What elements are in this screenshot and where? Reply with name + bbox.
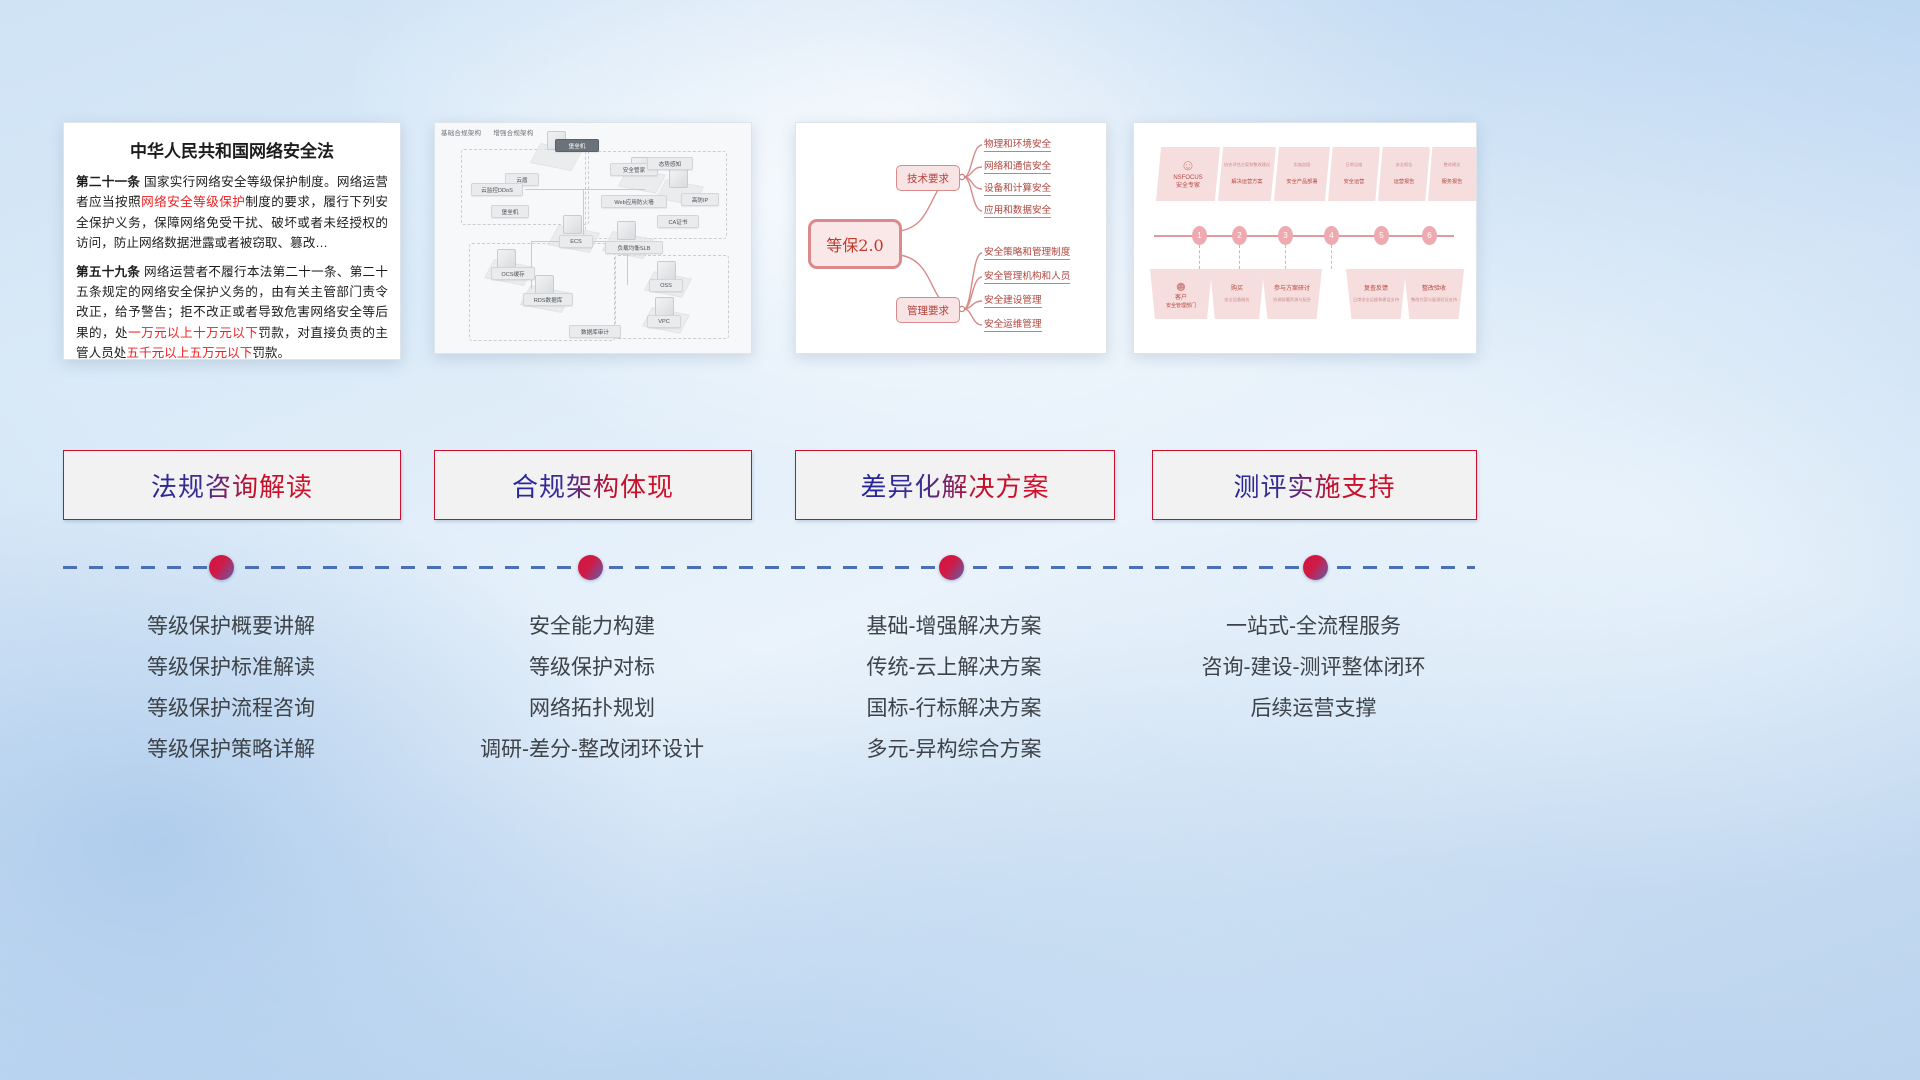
list-item: 等级保护标准解读: [63, 647, 399, 688]
timeline-tick: [1331, 245, 1333, 269]
list-item: 等级保护流程咨询: [63, 688, 399, 729]
section-title-box-4[interactable]: 测评实施支持: [1152, 450, 1477, 520]
bottom-chevron: 参与方案研讨 协调部署资源与配合: [1262, 269, 1322, 319]
mindmap-leaf: 设备和计算安全: [984, 180, 1051, 196]
top-chevron-label: 服务报告: [1442, 179, 1463, 186]
connector-line: [583, 189, 584, 241]
top-chevron-sub: 整改建议: [1444, 162, 1461, 167]
section-list-3: 基础-增强解决方案 传统-云上解决方案 国标-行标解决方案 多元-异构综合方案: [795, 606, 1113, 770]
diagram-node-label: OSS: [660, 283, 672, 289]
timeline-tick: [1285, 245, 1287, 269]
server-icon: [669, 169, 688, 188]
mindmap-leaf: 安全运维管理: [984, 316, 1042, 332]
timeline-step: 2: [1232, 226, 1247, 245]
mindmap-branch-label: 技术要求: [907, 171, 949, 186]
architecture-thumbnail-card[interactable]: 基础合规架构 增强合规架构: [434, 122, 752, 354]
list-item: 多元-异构综合方案: [795, 729, 1113, 770]
section-title-row: 法规咨询解读 合规架构体现 差异化解决方案 测评实施支持: [0, 450, 1920, 520]
server-icon: [563, 215, 582, 234]
timeline-marker-4[interactable]: [1303, 555, 1328, 580]
service-timeline-diagram: ☺ NSFOCUS 安全专家 协合评估方案和整改建议 解决运营方案 实施加固 安…: [1134, 123, 1476, 353]
timeline-step: 5: [1374, 226, 1389, 245]
law-seg-highlight: 一万元以上十万元以下: [128, 326, 258, 340]
mindmap-diagram: 等保2.0 技术要求 管理要求 物理和环境安全 网络和通信安全 设备和计算安全 …: [796, 123, 1106, 353]
section-title-label: 差异化解决方案: [860, 467, 1049, 504]
section-title-box-1[interactable]: 法规咨询解读: [63, 450, 401, 520]
law-card-title: 中华人民共和国网络安全法: [64, 137, 400, 162]
bottom-chevron-label: 参与方案研讨: [1274, 286, 1310, 294]
bottom-chevron-label: 复查反馈: [1364, 286, 1388, 294]
top-chevron: 整改建议 服务报告: [1428, 147, 1476, 201]
mindmap-branch-label: 管理要求: [907, 303, 949, 318]
bottom-chevron: 复查反馈 日常安全运维和建设支持: [1346, 269, 1406, 319]
section-title-box-3[interactable]: 差异化解决方案: [795, 450, 1115, 520]
bottom-chevron-sub: 整改方案与复测验证支持: [1411, 297, 1457, 302]
mindmap-root-node: 等保2.0: [808, 219, 902, 269]
top-chevron: 安全报告 运营报告: [1378, 147, 1430, 201]
person-star-icon: ☺: [1180, 158, 1195, 173]
top-chevron-sub: 实施加固: [1294, 162, 1311, 167]
diagram-node: 高防IP: [681, 193, 719, 206]
mindmap-leaf: 安全管理机构和人员: [984, 268, 1070, 284]
thumbnail-card-row: 中华人民共和国网络安全法 第二十一条 国家实行网络安全等级保护制度。网络运营者应…: [0, 122, 1920, 362]
mindmap-leaf: 网络和通信安全: [984, 158, 1051, 174]
list-item: 等级保护概要讲解: [63, 606, 399, 647]
mindmap-leaf: 安全策略和管理制度: [984, 244, 1070, 260]
slide-stage: 中华人民共和国网络安全法 第二十一条 国家实行网络安全等级保护制度。网络运营者应…: [0, 0, 1920, 1080]
timeline-marker-2[interactable]: [578, 555, 603, 580]
timeline-tick: [1239, 245, 1241, 269]
persona-bottom-subtitle: 安全管理部门: [1166, 303, 1196, 309]
list-item: 调研-差分-整改闭环设计: [434, 729, 750, 770]
top-chevron: 实施加固 安全产品部署: [1274, 147, 1330, 201]
diagram-node: 态势感知: [647, 157, 693, 170]
law-seg-highlight: 网络安全等级保护: [141, 195, 245, 209]
top-chevron-label: 解决运营方案: [1231, 179, 1262, 186]
bottom-chevron-label: 购买: [1231, 286, 1243, 294]
top-chevron-sub: 日常运维: [1346, 162, 1363, 167]
mindmap-leaf: 安全建设管理: [984, 292, 1042, 308]
section-title-label: 测评实施支持: [1233, 467, 1395, 504]
top-chevron-label: 安全产品部署: [1286, 179, 1317, 186]
bottom-chevron-label: 整改验收: [1422, 286, 1446, 294]
persona-bottom: ☻ 客户 安全管理部门: [1150, 269, 1212, 319]
diagram-node-label: 态势感知: [659, 160, 681, 168]
diagram-node-label: 高防IP: [692, 196, 708, 204]
diagram-node: ECS: [559, 235, 593, 248]
diagram-node-label: RDS数据库: [534, 296, 563, 304]
timeline-dashed-axis: [63, 566, 1475, 569]
law-article-label: 第二十一条: [76, 175, 140, 189]
server-icon: [617, 221, 636, 240]
service-timeline-thumbnail-card[interactable]: ☺ NSFOCUS 安全专家 协合评估方案和整改建议 解决运营方案 实施加固 安…: [1133, 122, 1477, 354]
mindmap-leaf: 应用和数据安全: [984, 202, 1051, 218]
list-item: 安全能力构建: [434, 606, 750, 647]
diagram-node: Web应用防火墙: [601, 195, 667, 208]
list-item: 咨询-建设-测评整体闭环: [1152, 647, 1475, 688]
law-thumbnail-card[interactable]: 中华人民共和国网络安全法 第二十一条 国家实行网络安全等级保护制度。网络运营者应…: [63, 122, 401, 360]
top-chevron-label: 安全运营: [1344, 179, 1365, 186]
diagram-node: VPC: [647, 315, 681, 328]
diagram-node: OCS缓存: [491, 267, 535, 280]
list-item: 网络拓扑规划: [434, 688, 750, 729]
law-seg: 罚款。: [252, 346, 290, 360]
mindmap-leaf: 物理和环境安全: [984, 136, 1051, 152]
diagram-node-label: Web应用防火墙: [614, 198, 653, 206]
top-chevron-sub: 协合评估方案和整改建议: [1224, 162, 1270, 167]
diagram-node: CA证书: [657, 215, 699, 228]
diagram-node: RDS数据库: [523, 293, 573, 306]
diagram-node: 云监控DDoS: [471, 183, 523, 196]
diagram-node: 负载均衡SLB: [605, 241, 663, 254]
diagram-node: 堡垒机: [555, 139, 599, 152]
diagram-node-label: 安全管家: [623, 166, 645, 174]
section-list-4: 一站式-全流程服务 咨询-建设-测评整体闭环 后续运营支撑: [1152, 606, 1475, 729]
mindmap-branch-technical: 技术要求: [896, 165, 960, 191]
top-chevron: 日常运维 安全运营: [1328, 147, 1380, 201]
server-icon: [657, 261, 676, 280]
diagram-node: 堡垒机: [491, 205, 529, 218]
connector-line: [525, 189, 645, 190]
diagram-node-label: 数据库审计: [581, 328, 609, 336]
list-item: 基础-增强解决方案: [795, 606, 1113, 647]
timeline-marker-1[interactable]: [209, 555, 234, 580]
diagram-node-label: OCS缓存: [501, 270, 524, 278]
timeline-tick: [1199, 245, 1201, 269]
diagram-node-label: 云监控DDoS: [481, 186, 513, 194]
timeline-step: 1: [1192, 226, 1207, 245]
diagram-node: OSS: [649, 279, 683, 292]
diagram-node: 数据库审计: [569, 325, 621, 338]
connector-line: [531, 241, 532, 289]
law-paragraph-21: 第二十一条 国家实行网络安全等级保护制度。网络运营者应当按照网络安全等级保护制度…: [76, 172, 388, 254]
top-chevron: 协合评估方案和整改建议 解决运营方案: [1218, 147, 1276, 201]
persona-top: ☺ NSFOCUS 安全专家: [1156, 147, 1220, 201]
bottom-chevron: 整改验收 整改方案与复测验证支持: [1404, 269, 1464, 319]
timeline-step: 4: [1324, 226, 1339, 245]
diagram-node-label: 堡垒机: [569, 142, 586, 150]
list-item: 一站式-全流程服务: [1152, 606, 1475, 647]
bottom-chevron-sub: 日常安全运维和建设支持: [1353, 297, 1399, 302]
bottom-chevron: 购买 安全设备服务: [1210, 269, 1264, 319]
diagram-node-label: ECS: [570, 239, 582, 245]
bottom-chevron-sub: 协调部署资源与配合: [1273, 297, 1311, 302]
mindmap-branch-management: 管理要求: [896, 297, 960, 323]
list-item: 国标-行标解决方案: [795, 688, 1113, 729]
timeline-step: 3: [1278, 226, 1293, 245]
section-title-label: 合规架构体现: [512, 467, 674, 504]
mindmap-thumbnail-card[interactable]: 等保2.0 技术要求 管理要求 物理和环境安全 网络和通信安全 设备和计算安全 …: [795, 122, 1107, 354]
timeline-step: 6: [1422, 226, 1437, 245]
list-item: 后续运营支撑: [1152, 688, 1475, 729]
section-list-2: 安全能力构建 等级保护对标 网络拓扑规划 调研-差分-整改闭环设计: [434, 606, 750, 770]
section-title-label: 法规咨询解读: [151, 467, 313, 504]
person-check-icon: ☻: [1174, 279, 1189, 293]
top-chevron-label: 运营报告: [1394, 179, 1415, 186]
server-icon: [497, 249, 516, 268]
persona-top-subtitle: 安全专家: [1176, 183, 1200, 191]
list-item: 等级保护策略详解: [63, 729, 399, 770]
list-item: 传统-云上解决方案: [795, 647, 1113, 688]
section-title-box-2[interactable]: 合规架构体现: [434, 450, 752, 520]
server-icon: [535, 275, 554, 294]
law-seg-highlight: 五千元以上五万元以下: [126, 346, 252, 360]
server-icon: [655, 297, 674, 316]
architecture-diagram: 堡垒机 安全管家 态势感知 云盾 高防IP CA证书 Web应用防火墙 堡垒机 …: [435, 123, 751, 353]
list-item: 等级保护对标: [434, 647, 750, 688]
section-list-1: 等级保护概要讲解 等级保护标准解读 等级保护流程咨询 等级保护策略详解: [63, 606, 399, 770]
bottom-chevron-sub: 安全设备服务: [1224, 297, 1249, 302]
diagram-node-label: 堡垒机: [502, 208, 519, 216]
persona-bottom-title: 客户: [1175, 295, 1187, 303]
diagram-node-label: VPC: [658, 319, 670, 325]
timeline-marker-3[interactable]: [939, 555, 964, 580]
diagram-node-label: CA证书: [669, 218, 688, 226]
persona-top-title: NSFOCUS: [1173, 175, 1202, 183]
law-article-label: 第五十九条: [76, 265, 140, 279]
top-chevron-sub: 安全报告: [1396, 162, 1413, 167]
law-paragraph-59: 第五十九条 网络运营者不履行本法第二十一条、第二十五条规定的网络安全保护义务的，…: [76, 262, 388, 360]
diagram-node-label: 负载均衡SLB: [618, 244, 651, 252]
